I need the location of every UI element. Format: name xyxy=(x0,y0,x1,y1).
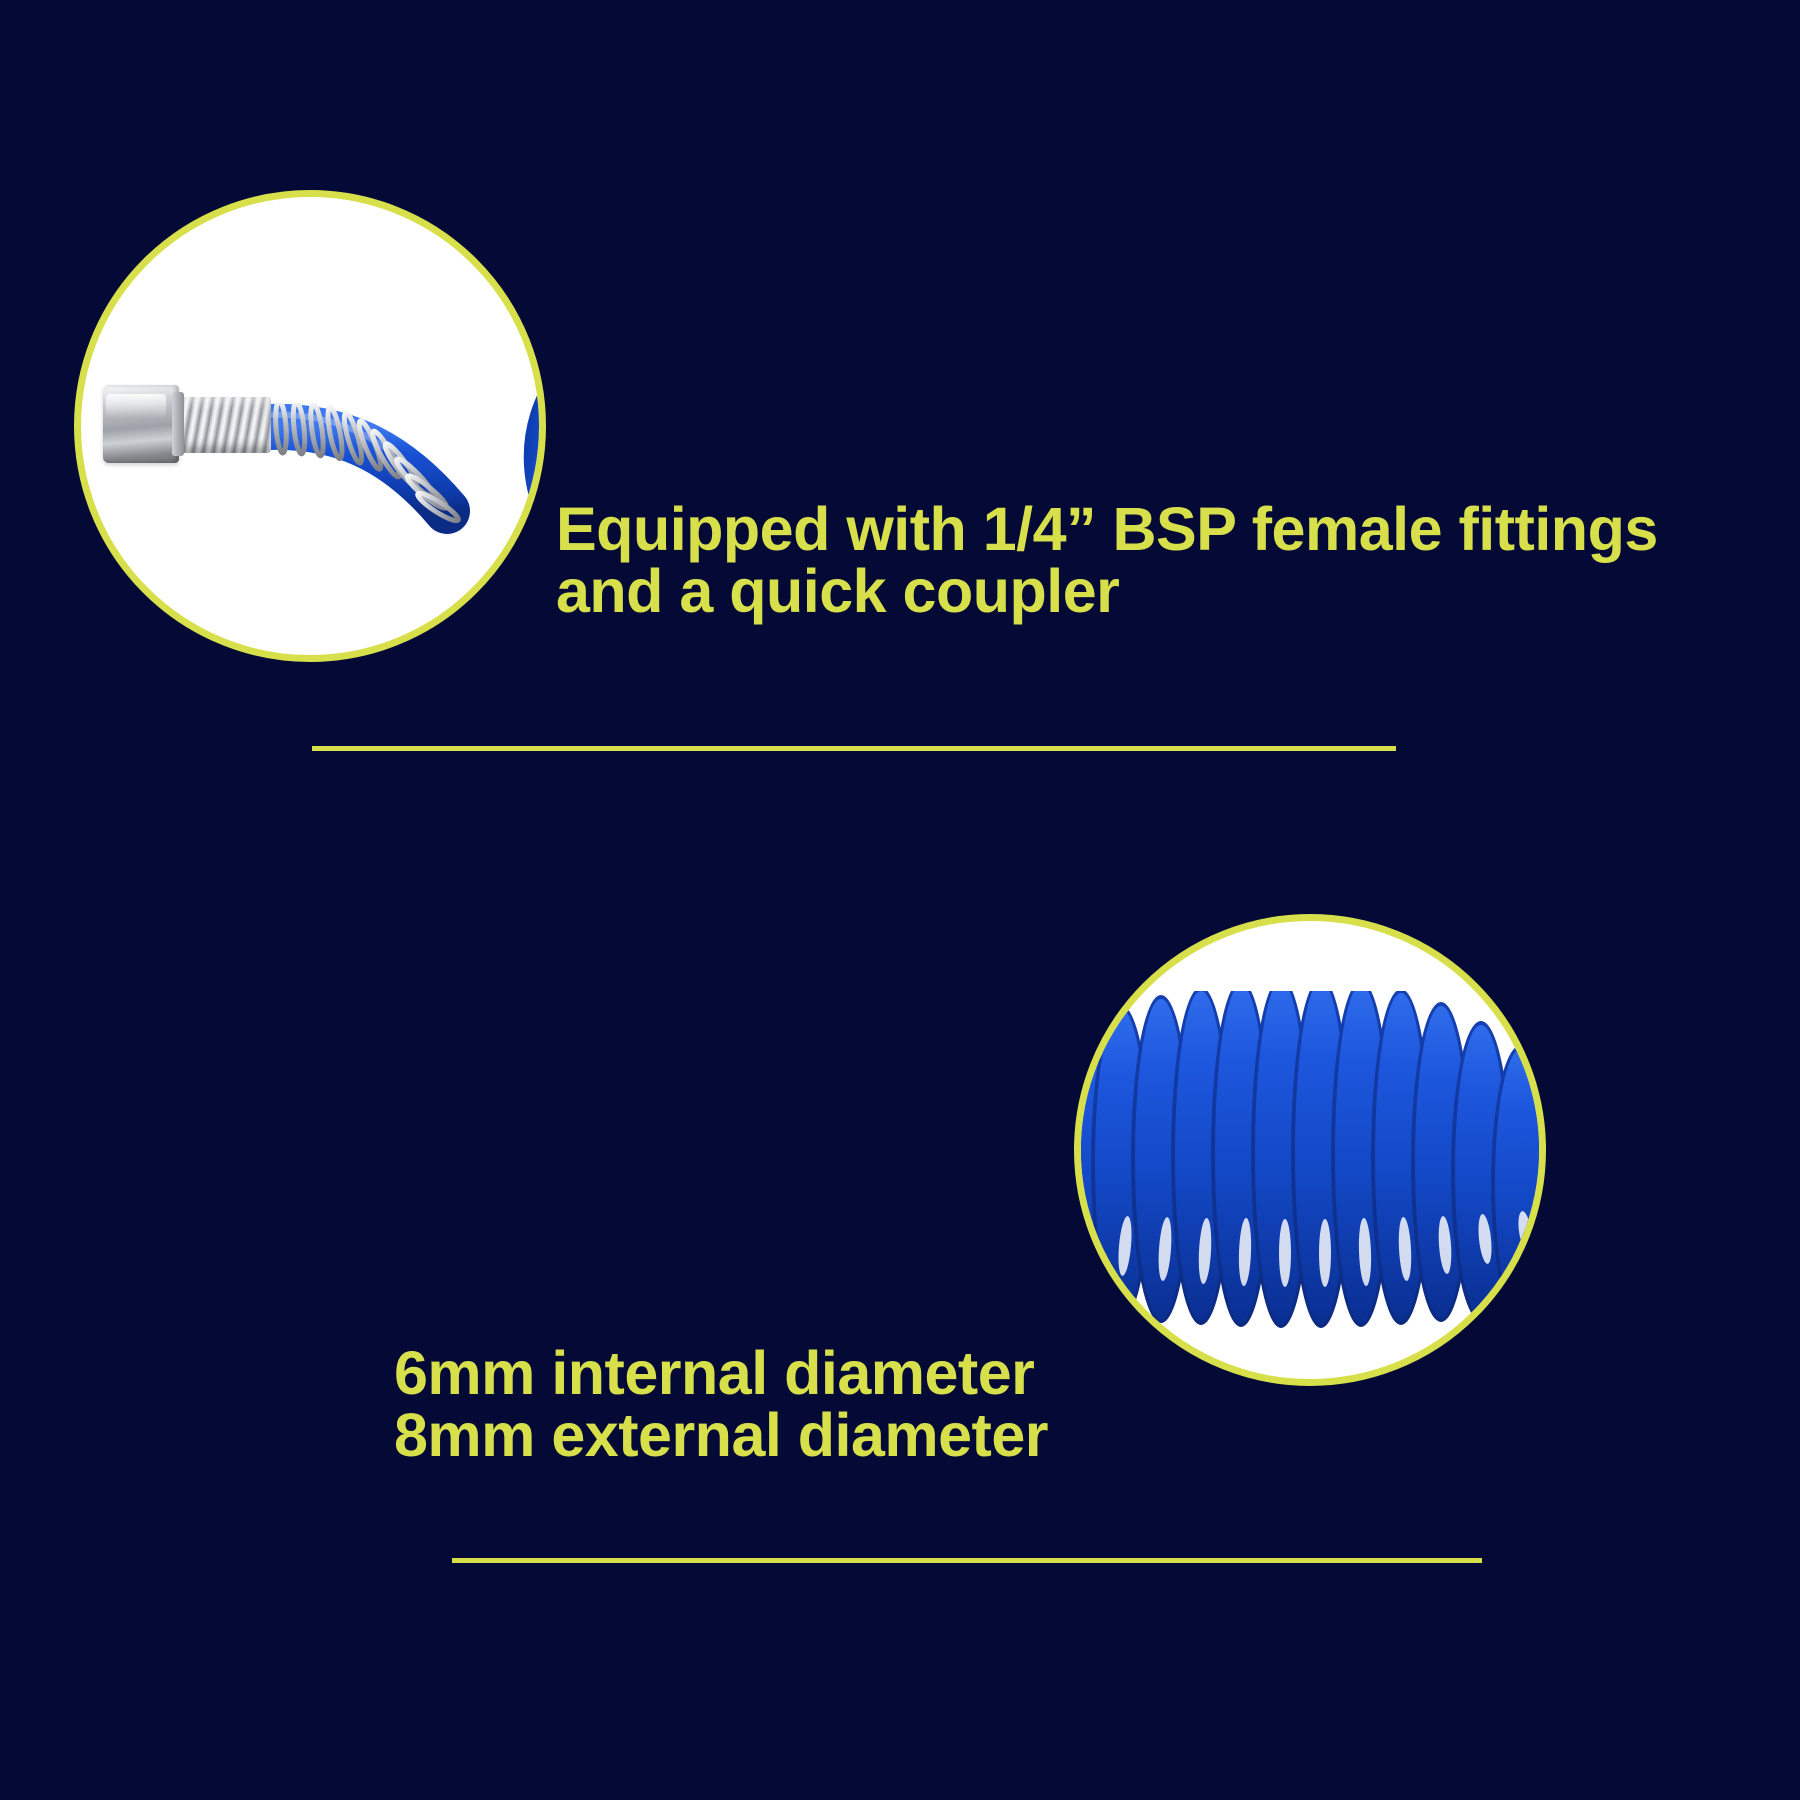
coiled-hose-photo xyxy=(1081,921,1539,1379)
feature-fitting-caption: Equipped with 1/4” BSP female fittings a… xyxy=(556,498,1786,622)
product-feature-infographic: Equipped with 1/4” BSP female fittings a… xyxy=(0,0,1800,1800)
hose-arm-with-spring xyxy=(267,403,527,553)
feature-fitting-image-circle xyxy=(74,190,546,662)
hose-coil-shape xyxy=(1081,991,1539,1379)
threaded-shank xyxy=(173,397,271,453)
hex-nut-fitting xyxy=(103,385,179,463)
hose-fitting-photo xyxy=(81,197,539,655)
feature-fitting-divider xyxy=(312,746,1396,751)
feature-diameter-divider xyxy=(452,1558,1482,1563)
feature-diameter-image-circle xyxy=(1074,914,1546,1386)
feature-diameter-caption: 6mm internal diameter 8mm external diame… xyxy=(394,1342,1394,1466)
